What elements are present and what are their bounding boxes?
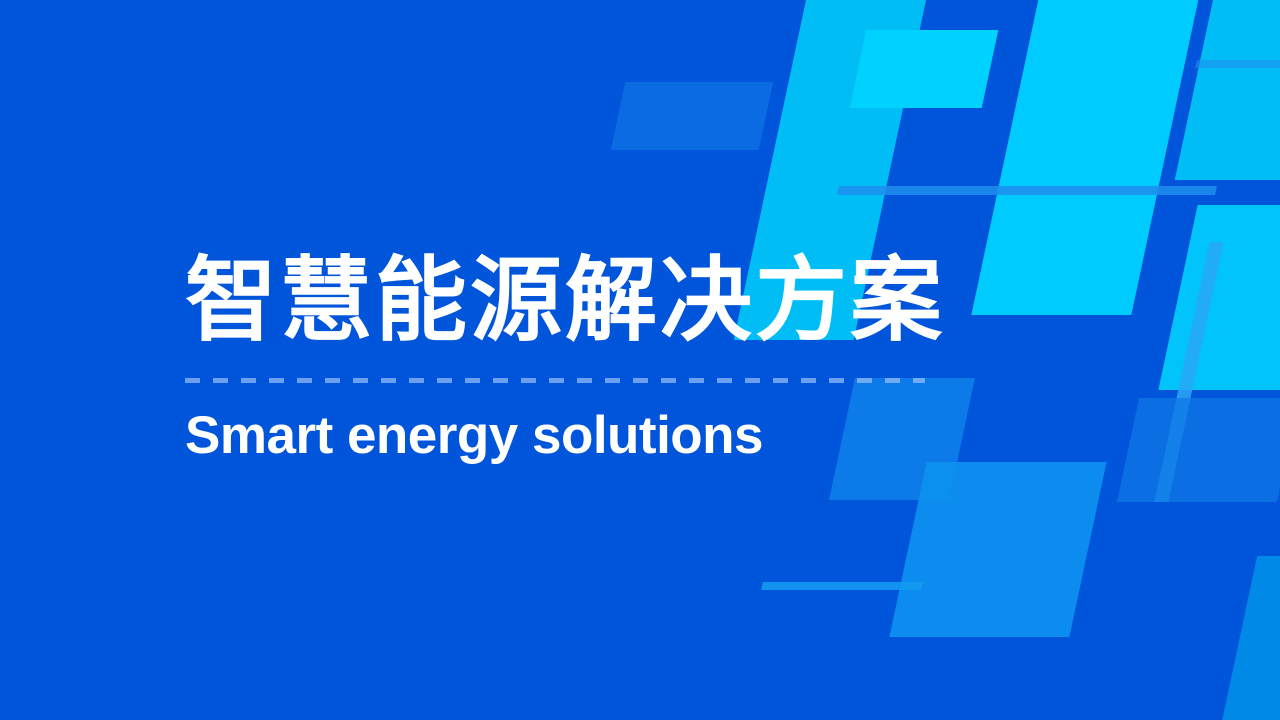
- dashed-divider: [185, 378, 925, 383]
- accent-line-right-upper: [1195, 60, 1280, 68]
- thin-vertical-bar: [1154, 242, 1223, 502]
- soft-parallelogram-right-lower: [1117, 398, 1280, 502]
- dashed-divider-line: [185, 378, 925, 383]
- accent-line-upper: [837, 186, 1217, 195]
- title-slide: 智慧能源解决方案 Smart energy solutions: [0, 0, 1280, 720]
- page-subtitle: Smart energy solutions: [185, 407, 1085, 465]
- cyan-parallelogram-right-mid: [1158, 205, 1280, 390]
- accent-line-lower: [761, 582, 923, 590]
- cyan-parallelogram-bottom-right: [1219, 556, 1280, 720]
- cyan-parallelogram-bottom: [889, 462, 1106, 637]
- cyan-parallelogram-right-edge: [1175, 0, 1280, 180]
- soft-parallelogram-upper-left: [611, 82, 773, 150]
- title-block: 智慧能源解决方案 Smart energy solutions: [185, 252, 1085, 465]
- page-title: 智慧能源解决方案: [185, 252, 1085, 350]
- bright-cyan-block: [850, 30, 999, 108]
